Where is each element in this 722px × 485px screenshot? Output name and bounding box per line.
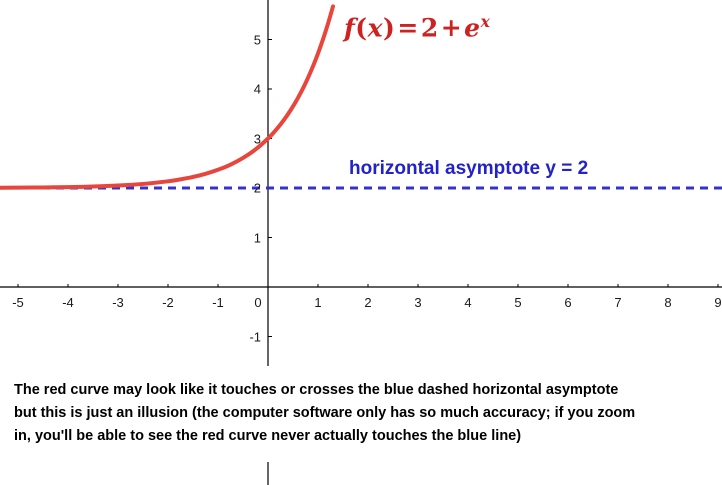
x-tick-label: 9 [714,296,721,309]
y-tick-label: 5 [254,33,261,46]
asymptote-text-label: horizontal asymptote y = 2 [349,159,588,178]
x-tick-label: 3 [414,296,421,309]
formula-close-paren: ) [383,13,395,42]
caption-line-3: in, you'll be able to see the red curve … [14,425,714,448]
formula-constant: 2 [421,13,439,42]
formula-f: f [344,13,355,42]
x-tick-label: 0 [254,296,261,309]
x-tick-label: 6 [564,296,571,309]
x-tick-label: -3 [112,296,124,309]
y-tick-label: -1 [249,330,261,343]
formula-open-paren: ( [355,13,367,42]
y-tick-label: 4 [254,83,261,96]
x-tick-label: 1 [314,296,321,309]
formula-plus: + [439,13,464,42]
figure-caption: The red curve may look like it touches o… [14,379,714,448]
y-tick-label: 1 [254,231,261,244]
x-tick-label: -2 [162,296,174,309]
y-tick-label: 3 [254,132,261,145]
x-tick-label: 5 [514,296,521,309]
x-tick-label: -5 [12,296,24,309]
formula-variable: x [368,13,383,42]
formula-exponent: x [481,12,491,31]
formula-base: e [464,13,480,42]
x-tick-label: 7 [614,296,621,309]
x-tick-label: -4 [62,296,74,309]
y-tick-label: 2 [254,182,261,195]
x-tick-label: 4 [464,296,471,309]
x-tick-label: 8 [664,296,671,309]
function-formula-label: f(x)=2+ex [344,14,490,40]
graph-figure: -5-4-3-2-10123456789 -112345 f(x)=2+ex h… [0,0,722,485]
x-tick-label: -1 [212,296,224,309]
x-tick-label: 2 [364,296,371,309]
exponential-curve [1,6,334,187]
caption-line-1: The red curve may look like it touches o… [14,379,714,402]
formula-equals: = [395,13,420,42]
caption-line-2: but this is just an illusion (the comput… [14,402,714,425]
